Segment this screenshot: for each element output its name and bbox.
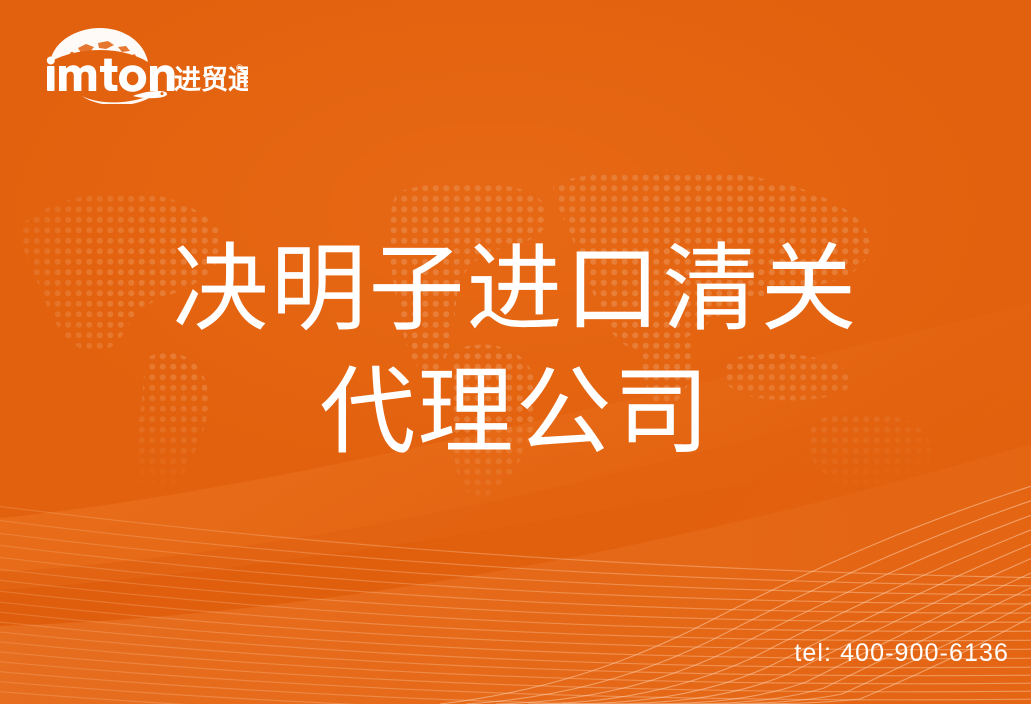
registered-trademark-icon: ®: [235, 64, 244, 74]
page-title-line-2: 代理公司: [0, 351, 1031, 474]
logo-wordmark-latin: [47, 57, 175, 92]
page-title: 决明子进口清关 代理公司: [0, 228, 1031, 474]
promo-banner: 进贸通 ® 决明子进口清关 代理公司 tel: 400-900-6136: [0, 0, 1031, 704]
page-title-line-1: 决明子进口清关: [0, 228, 1031, 351]
company-logo[interactable]: 进贸通 ®: [38, 26, 248, 104]
globe-arc-icon: [50, 28, 148, 62]
dotted-world-map: [0, 120, 1031, 520]
striped-fan: [0, 474, 1031, 704]
contact-phone[interactable]: tel: 400-900-6136: [794, 639, 1009, 668]
background-glow: [0, 0, 1031, 704]
swoosh-icon: [82, 91, 167, 104]
